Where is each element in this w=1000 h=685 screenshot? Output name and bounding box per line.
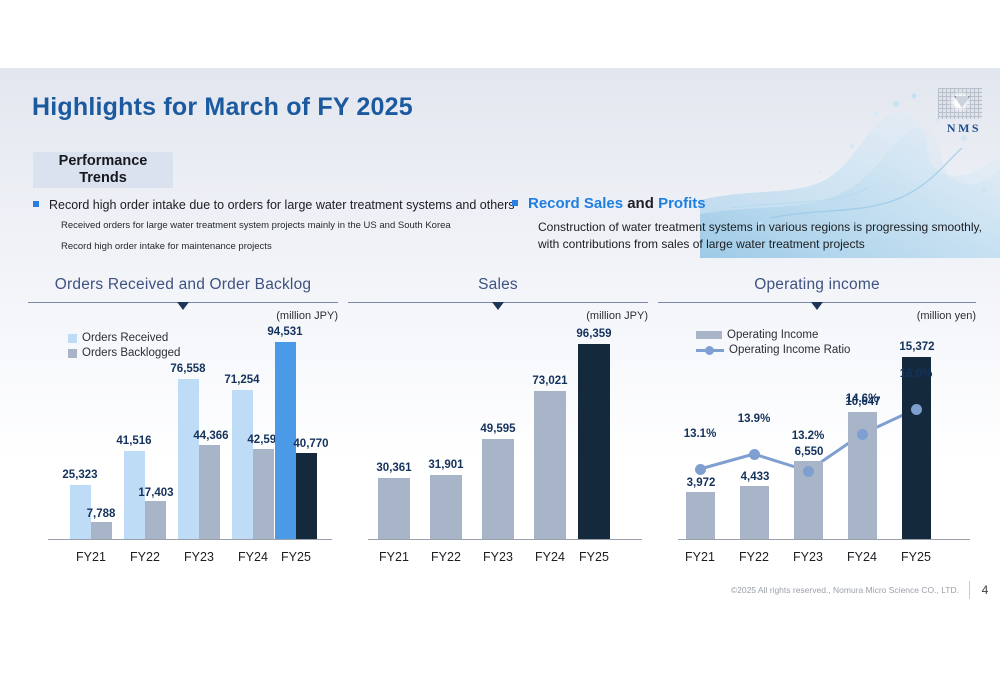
chart-title-sales: Sales (348, 276, 648, 294)
line-point-fy24 (857, 429, 868, 440)
line-point-fy22 (749, 449, 760, 460)
xtick-fy22: FY22 (115, 550, 175, 564)
bar-label-sales-fy23: 49,595 (468, 423, 528, 435)
chart-panel-sales: Sales (million JPY) 30,361 FY21 31,901 F… (348, 276, 648, 566)
left-bullet-sub-2: Record high order intake for maintenance… (61, 240, 503, 254)
right-bullet-lead-part1: Record Sales (528, 195, 623, 212)
bullet-square-icon (33, 201, 39, 207)
bar-sales-fy23 (482, 439, 514, 539)
left-bullet-lead: Record high order intake due to orders f… (33, 198, 503, 212)
bar-label-received-fy22: 41,516 (104, 435, 164, 447)
bar-label-sales-fy24: 73,021 (520, 375, 580, 387)
xtick-fy24: FY24 (833, 550, 891, 564)
perf-tag-line1: Performance (59, 153, 148, 169)
xtick-fy23: FY23 (468, 550, 528, 564)
rule-triangle-icon (492, 302, 504, 310)
plot-area-sales: 30,361 FY21 31,901 FY22 49,595 FY23 73,0… (348, 316, 648, 566)
page-number: 4 (980, 583, 990, 597)
rule-triangle-icon (811, 302, 823, 310)
chart-title-orders: Orders Received and Order Backlog (28, 276, 338, 294)
bar-label-backlogged-fy21: 7,788 (73, 508, 129, 520)
bar-orders-backlogged-fy21 (91, 522, 112, 539)
copyright-text: ©2025 All rights reserved., Nomura Micro… (731, 585, 959, 595)
xtick-fy25: FY25 (266, 550, 326, 564)
bar-sales-fy21 (378, 478, 410, 539)
line-point-fy23 (803, 466, 814, 477)
left-bullet-block: Record high order intake due to orders f… (33, 198, 503, 254)
line-point-fy21 (695, 464, 706, 475)
chart-rule (28, 302, 338, 303)
xtick-fy21: FY21 (61, 550, 121, 564)
bar-orders-received-fy23 (178, 379, 199, 539)
nms-logo: NMS (938, 88, 990, 136)
bar-orders-backlogged-fy25 (296, 453, 317, 539)
line-label-fy25: 16.0% (887, 368, 945, 380)
bar-operating-income-fy22 (740, 486, 769, 539)
left-bullet-lead-text: Record high order intake due to orders f… (49, 198, 515, 212)
bar-operating-income-fy21 (686, 492, 715, 539)
perf-tag-line2: Trends (79, 170, 127, 186)
bar-orders-received-fy24 (232, 390, 253, 539)
right-bullet-lead-part2: and (627, 195, 654, 212)
bar-operating-income-fy25 (902, 357, 931, 539)
chart-rule (348, 302, 648, 303)
bar-label-oi-fy21: 3,972 (672, 477, 730, 489)
xtick-fy25: FY25 (564, 550, 624, 564)
line-label-fy24: 14.6% (833, 393, 891, 405)
logo-wordmark: NMS (938, 121, 990, 136)
bullet-square-icon (512, 200, 518, 206)
bar-sales-fy24 (534, 391, 566, 539)
bar-label-oi-fy22: 4,433 (726, 471, 784, 483)
page-title: Highlights for March of FY 2025 (32, 93, 413, 122)
footer: ©2025 All rights reserved., Nomura Micro… (731, 581, 990, 599)
axis-baseline (48, 539, 332, 541)
chart-panel-operating-income: Operating income (million yen) Operating… (658, 276, 976, 566)
bar-label-backlogged-fy25: 40,770 (281, 438, 341, 450)
bar-label-oi-fy25: 15,372 (888, 341, 946, 353)
plot-area-orders: 25,323 7,788 FY21 41,516 17,403 FY22 76,… (28, 316, 338, 566)
slide-canvas: NMS Highlights for March of FY 2025 Perf… (0, 68, 1000, 615)
right-bullet-block: Record Sales and Profits Construction of… (512, 195, 982, 254)
bar-sales-fy25 (578, 344, 610, 539)
right-bullet-lead-part3: Profits (658, 195, 706, 212)
bar-label-sales-fy25: 96,359 (564, 328, 624, 340)
xtick-fy23: FY23 (169, 550, 229, 564)
xtick-fy22: FY22 (416, 550, 476, 564)
right-bullet-lead: Record Sales and Profits (512, 195, 982, 212)
bar-orders-backlogged-fy23 (199, 445, 220, 539)
logo-grid-mark (938, 88, 982, 119)
rule-triangle-icon (177, 302, 189, 310)
xtick-fy21: FY21 (364, 550, 424, 564)
line-point-fy25 (911, 404, 922, 415)
bar-label-backlogged-fy22: 17,403 (127, 487, 185, 499)
bar-label-received-fy23: 76,558 (158, 363, 218, 375)
chart-title-operating-income: Operating income (658, 276, 976, 294)
bar-orders-backlogged-fy22 (145, 501, 166, 539)
line-label-fy23: 13.2% (779, 430, 837, 442)
line-label-fy21: 13.1% (671, 428, 729, 440)
chart-panel-orders: Orders Received and Order Backlog (milli… (28, 276, 338, 566)
bar-label-received-fy21: 25,323 (50, 469, 110, 481)
bar-label-received-fy24: 71,254 (212, 374, 272, 386)
bar-label-sales-fy22: 31,901 (416, 459, 476, 471)
bar-sales-fy22 (430, 475, 462, 539)
left-bullet-sub-1: Received orders for large water treatmen… (61, 219, 503, 233)
footer-divider (969, 581, 970, 599)
performance-trends-tag: Performance Trends (33, 152, 173, 188)
chart-rule (658, 302, 976, 303)
axis-baseline (368, 539, 642, 541)
bar-label-received-fy25: 94,531 (255, 326, 315, 338)
bar-label-sales-fy21: 30,361 (364, 462, 424, 474)
xtick-fy23: FY23 (779, 550, 837, 564)
xtick-fy21: FY21 (671, 550, 729, 564)
bar-label-oi-fy23: 6,550 (780, 446, 838, 458)
line-label-fy22: 13.9% (725, 413, 783, 425)
bar-orders-backlogged-fy24 (253, 449, 274, 539)
xtick-fy25: FY25 (887, 550, 945, 564)
right-bullet-sub: Construction of water treatment systems … (538, 219, 982, 254)
xtick-fy22: FY22 (725, 550, 783, 564)
plot-area-operating-income: 3,972 13.1% FY21 4,433 13.9% FY22 6,550 … (658, 316, 976, 566)
